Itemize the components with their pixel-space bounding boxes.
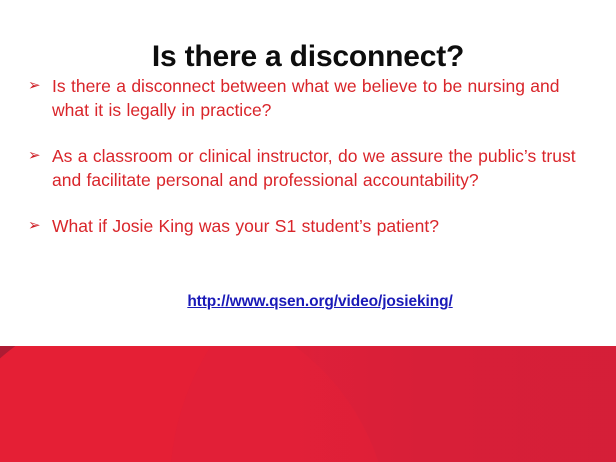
band-right-highlight xyxy=(300,346,616,462)
arrowhead-bullet-icon: ➢ xyxy=(28,144,46,168)
arrowhead-bullet-icon: ➢ xyxy=(28,214,46,238)
bullet-list: ➢ Is there a disconnect between what we … xyxy=(26,74,592,238)
link-line: http://www.qsen.org/video/josieking/ xyxy=(0,293,616,311)
list-item: ➢ What if Josie King was your S1 student… xyxy=(26,214,592,238)
list-item: ➢ As a classroom or clinical instructor,… xyxy=(26,144,592,192)
page-title: Is there a disconnect? xyxy=(0,40,616,73)
arrowhead-bullet-icon: ➢ xyxy=(28,74,46,98)
list-item-text: As a classroom or clinical instructor, d… xyxy=(52,144,592,192)
list-item-text: Is there a disconnect between what we be… xyxy=(52,74,592,122)
list-item-text: What if Josie King was your S1 student’s… xyxy=(52,214,592,238)
josie-king-video-link[interactable]: http://www.qsen.org/video/josieking/ xyxy=(187,293,452,310)
decorative-footer-band xyxy=(0,346,616,462)
slide: Is there a disconnect? ➢ Is there a disc… xyxy=(0,0,616,462)
list-item: ➢ Is there a disconnect between what we … xyxy=(26,74,592,122)
